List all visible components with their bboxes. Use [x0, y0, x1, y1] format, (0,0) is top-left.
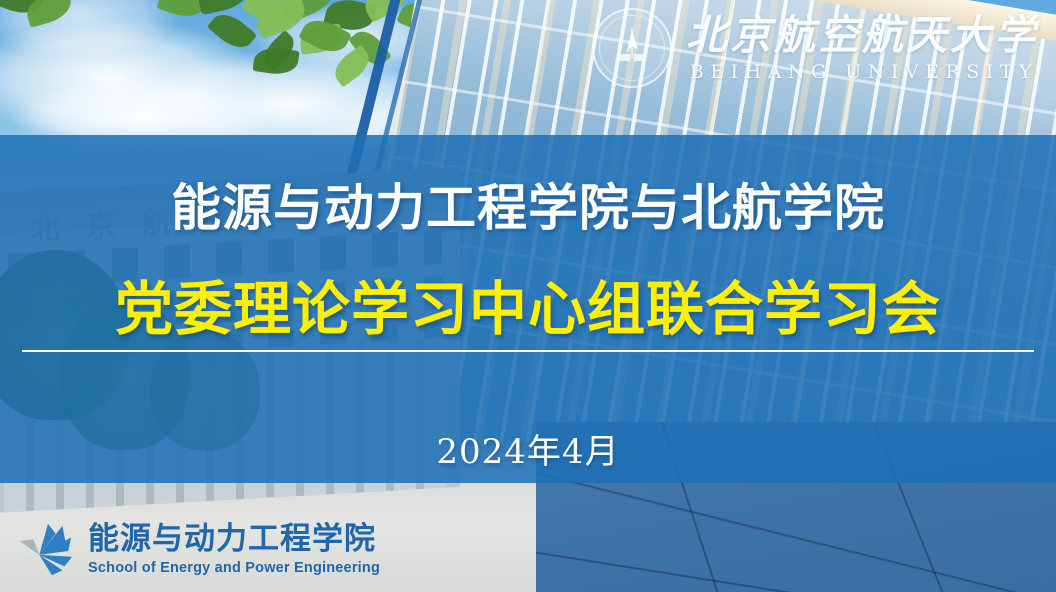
turbine-blade-icon	[18, 522, 76, 578]
university-name-cn: 北京航空航天大学	[686, 15, 1038, 56]
title-slide: 北京航空	[0, 0, 1056, 592]
university-name-en: BEIHANG UNIVERSITY	[690, 63, 1038, 82]
slide-date: 2024年4月	[0, 424, 1056, 473]
title-line-2: 党委理论学习中心组联合学习会	[0, 262, 1056, 346]
beihang-university-wordmark: 北京航空航天大学 BEIHANG UNIVERSITY	[592, 8, 1038, 88]
school-name-cn: 能源与动力工程学院	[88, 524, 380, 555]
beihang-seal-icon	[592, 8, 672, 88]
title-divider	[22, 350, 1034, 352]
school-logo: 能源与动力工程学院 School of Energy and Power Eng…	[18, 522, 380, 578]
title-line-1: 能源与动力工程学院与北航学院	[0, 168, 1056, 240]
tree-foliage	[0, 0, 90, 50]
school-name-en: School of Energy and Power Engineering	[88, 561, 380, 576]
